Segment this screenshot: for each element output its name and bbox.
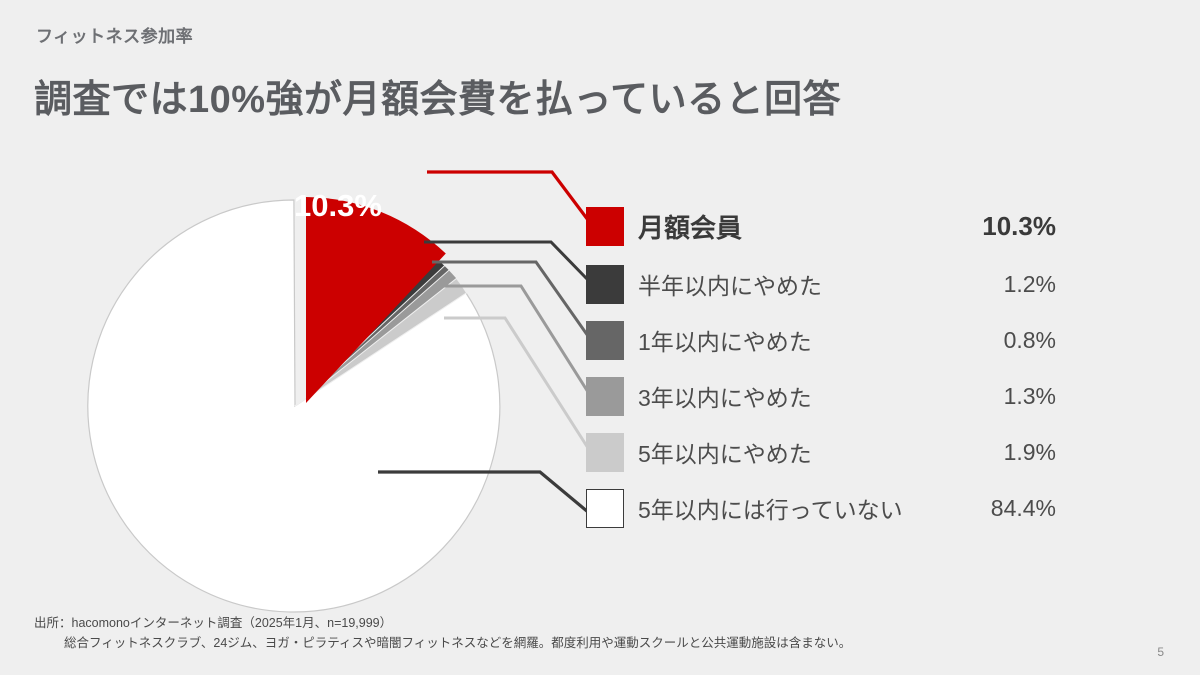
pie-chart-area: 10.3%: [0, 130, 600, 630]
legend-swatch-member: [586, 207, 624, 246]
legend-item-quit-3y[interactable]: 3年以内にやめた 1.3%: [586, 368, 1056, 424]
legend-value-quit-3y: 1.3%: [946, 383, 1056, 410]
legend-item-member[interactable]: 月額会員 10.3%: [586, 196, 1056, 256]
pie-data-label-member: 10.3%: [294, 188, 382, 223]
legend-item-not-visited[interactable]: 5年以内には行っていない 84.4%: [586, 480, 1056, 536]
footnote-line-1: 出所：hacomonoインターネット調査（2025年1月、n=19,999）: [34, 614, 851, 633]
legend-value-quit-5y: 1.9%: [946, 439, 1056, 466]
legend-value-not-visited: 84.4%: [946, 495, 1056, 522]
pie-slices: [88, 197, 500, 612]
legend-value-quit-6m: 1.2%: [946, 271, 1056, 298]
slide: フィットネス参加率 調査では10%強が月額会費を払っていると回答: [0, 0, 1200, 675]
legend-label-quit-3y: 3年以内にやめた: [638, 379, 946, 413]
pie-chart-svg: 10.3%: [0, 130, 620, 630]
page-title: 調査では10%強が月額会費を払っていると回答: [34, 68, 841, 123]
legend-value-member: 10.3%: [946, 211, 1056, 242]
legend-label-member: 月額会員: [638, 208, 946, 245]
legend-label-not-visited: 5年以内には行っていない: [638, 491, 946, 525]
eyebrow-title: フィットネス参加率: [36, 22, 193, 47]
legend-item-quit-6m[interactable]: 半年以内にやめた 1.2%: [586, 256, 1056, 312]
footnote: 出所：hacomonoインターネット調査（2025年1月、n=19,999） 総…: [34, 614, 851, 653]
legend-swatch-quit-6m: [586, 265, 624, 304]
legend-label-quit-6m: 半年以内にやめた: [638, 267, 946, 301]
legend-label-quit-5y: 5年以内にやめた: [638, 435, 946, 469]
legend-swatch-quit-1y: [586, 321, 624, 360]
legend-swatch-not-visited: [586, 489, 624, 528]
page-number: 5: [1157, 645, 1164, 659]
legend-swatch-quit-3y: [586, 377, 624, 416]
legend-value-quit-1y: 0.8%: [946, 327, 1056, 354]
legend-swatch-quit-5y: [586, 433, 624, 472]
legend: 月額会員 10.3% 半年以内にやめた 1.2% 1年以内にやめた 0.8% 3…: [586, 196, 1056, 536]
footnote-line-2: 総合フィットネスクラブ、24ジム、ヨガ・ピラティスや暗闇フィットネスなどを網羅。…: [34, 634, 851, 653]
leader-line-member: [427, 172, 588, 220]
legend-label-quit-1y: 1年以内にやめた: [638, 323, 946, 357]
legend-item-quit-5y[interactable]: 5年以内にやめた 1.9%: [586, 424, 1056, 480]
legend-item-quit-1y[interactable]: 1年以内にやめた 0.8%: [586, 312, 1056, 368]
